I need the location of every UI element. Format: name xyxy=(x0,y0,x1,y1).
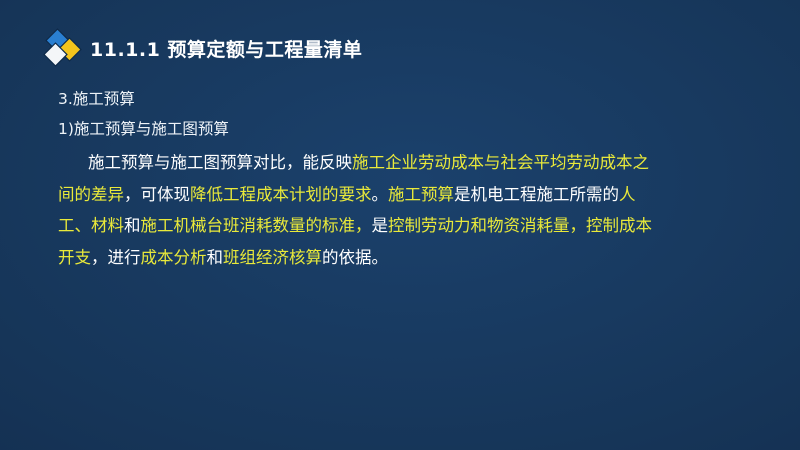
paragraph-run: 。 xyxy=(372,185,389,204)
slide-title-row: 11.1.1 预算定额与工程量清单 xyxy=(46,33,362,67)
paragraph-run: 和 xyxy=(207,248,224,267)
slide-canvas: 11.1.1 预算定额与工程量清单 3.施工预算 1)施工预算与施工图预算 施工… xyxy=(0,0,800,450)
diamond-bullet-icon xyxy=(46,32,88,68)
paragraph-run: ，可体现 xyxy=(124,185,190,204)
slide-body: 3.施工预算 1)施工预算与施工图预算 施工预算与施工图预算对比，能反映施工企业… xyxy=(58,84,658,273)
paragraph-run-highlight: 降低工程成本计划的要求 xyxy=(190,185,372,204)
paragraph-run-highlight: 控制劳动力和物资消耗量， xyxy=(388,216,586,235)
paragraph-run-highlight: 施工机械台班消耗数量的标准， xyxy=(141,216,372,235)
paragraph-run: 是 xyxy=(372,216,389,235)
paragraph-run: 的依据。 xyxy=(322,248,388,267)
paragraph-run-highlight: 班组经济核算 xyxy=(223,248,322,267)
paragraph-run: 是机电工程施工所需的 xyxy=(454,185,619,204)
sub-heading-1-paren: 1)施工预算与施工图预算 xyxy=(58,114,658,144)
body-paragraph: 施工预算与施工图预算对比，能反映施工企业劳动成本与社会平均劳动成本之间的差异，可… xyxy=(58,147,658,273)
slide-title: 11.1.1 预算定额与工程量清单 xyxy=(90,41,362,60)
paragraph-run: ，进行 xyxy=(91,248,141,267)
paragraph-run-highlight: 成本分析 xyxy=(141,248,207,267)
paragraph-run-highlight: 施工预算 xyxy=(388,185,454,204)
sub-heading-3: 3.施工预算 xyxy=(58,84,658,114)
paragraph-run: 施工预算与施工图预算对比，能反映 xyxy=(88,153,352,172)
paragraph-run: 和 xyxy=(124,216,141,235)
